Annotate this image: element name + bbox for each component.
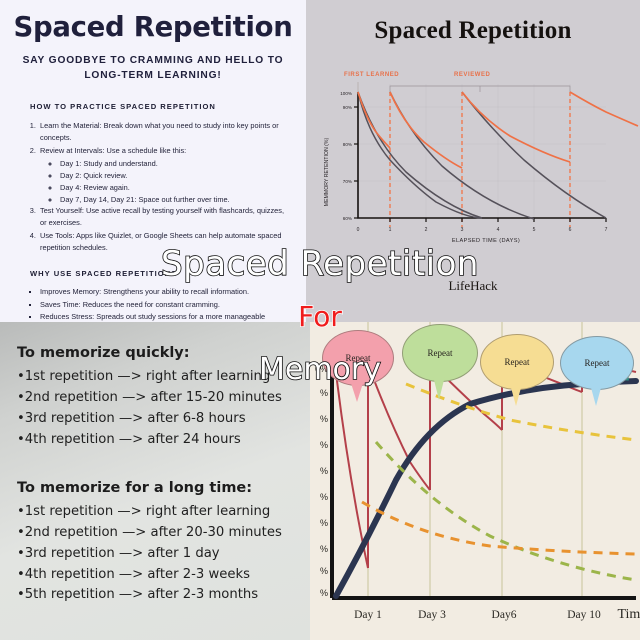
svg-text:100%: 100% xyxy=(340,91,352,96)
svg-text:5: 5 xyxy=(533,227,536,233)
bubble-label: Repeat xyxy=(505,357,530,367)
bl-long-list: •1st repetition —> right after learning … xyxy=(17,502,282,606)
svg-text:%: % xyxy=(320,492,328,502)
tl-title: Spaced Repetition xyxy=(0,11,306,43)
list-item-text: 3rd repetition —> after 1 day xyxy=(25,546,220,561)
svg-text:4: 4 xyxy=(497,227,500,233)
svg-text:%: % xyxy=(320,588,328,598)
list-item-text: 4th repetition —> after 24 hours xyxy=(25,432,241,447)
list-item: Review at Intervals: Use a schedule like… xyxy=(38,145,288,157)
list-item-text: 1st repetition —> right after learning xyxy=(25,369,270,384)
list-item: •5th repetition —> after 2-3 months xyxy=(17,585,282,606)
svg-text:2: 2 xyxy=(425,227,428,233)
list-item: Test Yourself: Use active recall by test… xyxy=(38,205,288,229)
svg-text:6: 6 xyxy=(569,227,572,233)
bl-quick-heading: To memorize quickly: xyxy=(17,345,282,361)
svg-text:%: % xyxy=(320,566,328,576)
list-item-text: 1st repetition —> right after learning xyxy=(25,504,270,519)
bubble-label: Repeat xyxy=(428,348,453,358)
br-xtick-3: Day 10 xyxy=(567,609,601,621)
br-xaxis-label: Time xyxy=(617,607,640,622)
list-item: Reduces Stress: Spreads out study sessio… xyxy=(40,311,288,322)
tr-chart-svg: 100% 90% 80% 70% 60% 0 1 2 3 4 5 6 7 xyxy=(306,62,640,262)
svg-text:%: % xyxy=(320,440,328,450)
list-item: •2nd repetition —> after 20-30 minutes xyxy=(17,523,282,544)
list-item: Improves Memory: Strengthens your abilit… xyxy=(40,286,288,298)
list-item-text: 4th repetition —> after 2-3 weeks xyxy=(25,567,250,582)
list-item: Day 2: Quick review. xyxy=(60,170,288,182)
list-item: •4th repetition —> after 24 hours xyxy=(17,430,282,451)
list-item: •1st repetition —> right after learning xyxy=(17,367,282,388)
overlay-caption-line3: Memory xyxy=(259,352,381,387)
list-item: Saves Time: Reduces the need for constan… xyxy=(40,299,288,311)
svg-text:3: 3 xyxy=(461,227,464,233)
bubble-repeat-2: Repeat xyxy=(402,324,476,382)
list-item-text: 2nd repetition —> after 20-30 minutes xyxy=(25,525,282,540)
list-item: Day 1: Study and understand. xyxy=(60,158,288,170)
list-item-text: 2nd repetition —> after 15-20 minutes xyxy=(25,390,282,405)
bubble-repeat-3: Repeat xyxy=(480,334,552,390)
bl-long-heading: To memorize for a long time: xyxy=(17,480,282,496)
tl-benefits-list: Improves Memory: Strengthens your abilit… xyxy=(40,286,288,322)
list-item-text: 3rd repetition —> after 6-8 hours xyxy=(25,411,246,426)
svg-text:80%: 80% xyxy=(343,142,352,147)
overlay-caption-line1: Spaced Repetition xyxy=(161,244,479,284)
tl-steps-list: Learn the Material: Break down what you … xyxy=(38,120,288,255)
svg-text:%: % xyxy=(320,518,328,528)
list-item: Learn the Material: Break down what you … xyxy=(38,120,288,144)
bl-quick-list: •1st repetition —> right after learning … xyxy=(17,367,282,450)
tr-title: Spaced Repetition xyxy=(306,17,640,45)
br-ytick-labels: 0% % % % % % % % % % xyxy=(315,364,328,598)
overlay-caption-line2: For xyxy=(298,300,342,333)
list-item: Day 7, Day 14, Day 21: Space out further… xyxy=(60,194,288,206)
svg-text:%: % xyxy=(320,388,328,398)
svg-text:7: 7 xyxy=(605,227,608,233)
infographic-collage: Spaced Repetition SAY GOODBYE TO CRAMMIN… xyxy=(0,0,640,640)
br-xtick-1: Day 3 xyxy=(418,609,446,621)
tl-subtitle: SAY GOODBYE TO CRAMMING AND HELLO TO LON… xyxy=(16,53,290,84)
svg-text:70%: 70% xyxy=(343,179,352,184)
bl-quick-block: To memorize quickly: •1st repetition —> … xyxy=(17,345,282,450)
bubble-repeat-4: Repeat xyxy=(560,336,632,390)
svg-text:%: % xyxy=(320,414,328,424)
list-item: •3rd repetition —> after 1 day xyxy=(17,544,282,565)
list-item: Day 4: Review again. xyxy=(60,182,288,194)
svg-text:1: 1 xyxy=(389,227,392,233)
tl-how-heading: HOW TO PRACTICE SPACED REPETITION xyxy=(30,102,306,111)
br-xtick-2: Day6 xyxy=(492,609,517,621)
svg-text:60%: 60% xyxy=(343,216,352,221)
tr-yaxis-label: MEMMORY RETENTION (%) xyxy=(324,138,330,207)
bl-long-block: To memorize for a long time: •1st repeti… xyxy=(17,480,282,606)
svg-text:%: % xyxy=(320,544,328,554)
svg-text:%: % xyxy=(320,466,328,476)
list-item: •4th repetition —> after 2-3 weeks xyxy=(17,565,282,586)
bubble-label: Repeat xyxy=(585,358,610,368)
list-item: •2nd repetition —> after 15-20 minutes xyxy=(17,388,282,409)
tl-schedule-list: Day 1: Study and understand. Day 2: Quic… xyxy=(50,158,288,206)
svg-text:90%: 90% xyxy=(343,105,352,110)
br-xtick-0: Day 1 xyxy=(354,609,382,621)
forgetting-curve-chart-top: 100% 90% 80% 70% 60% 0 1 2 3 4 5 6 7 xyxy=(306,62,640,262)
svg-text:0: 0 xyxy=(357,227,360,233)
list-item-text: 5th repetition —> after 2-3 months xyxy=(25,587,258,602)
list-item: •1st repetition —> right after learning xyxy=(17,502,282,523)
list-item: •3rd repetition —> after 6-8 hours xyxy=(17,409,282,430)
